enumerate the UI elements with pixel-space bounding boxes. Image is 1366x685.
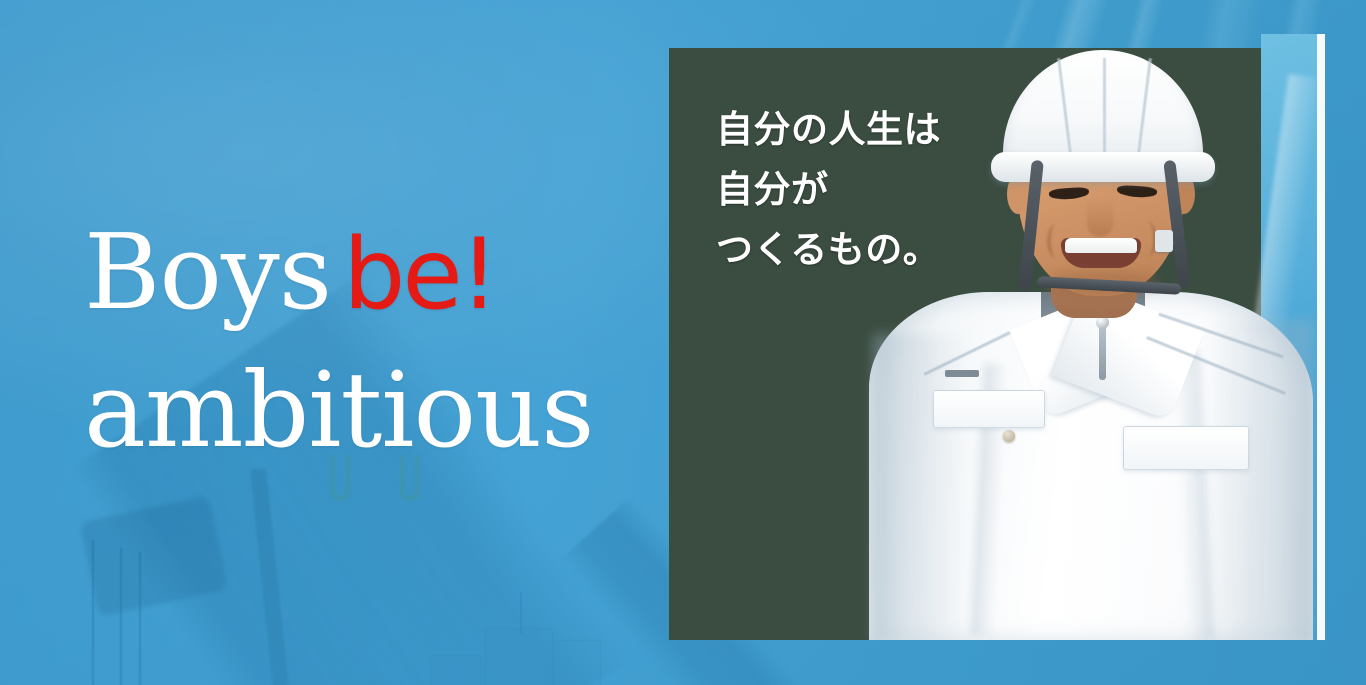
portrait-cutout-edge — [1317, 34, 1325, 640]
jacket-shading-left — [873, 334, 969, 640]
jacket-chest-pocket — [1123, 426, 1249, 470]
hard-hat-brim — [991, 152, 1215, 182]
message-line-2: 自分が — [716, 160, 1016, 220]
message-line-3: つくるもの。 — [716, 220, 1016, 280]
headline-line-1: Boysbe! — [84, 203, 684, 341]
headline-line-2: ambitious — [84, 341, 684, 479]
hard-hat-rib — [1103, 58, 1106, 154]
jacket-chest-pocket — [933, 390, 1045, 428]
jacket-pocket-slit — [945, 370, 979, 377]
recruiting-hero-banner: Boysbe! ambitious — [0, 0, 1366, 685]
message-line-1: 自分の人生は — [716, 100, 1016, 160]
jacket-pocket-button — [1003, 430, 1015, 442]
jacket-zipper — [1099, 322, 1106, 380]
worker-teeth — [1065, 238, 1137, 253]
chin-strap-clip — [1155, 230, 1173, 252]
message-copy: 自分の人生は 自分が つくるもの。 — [716, 100, 1016, 280]
headline-word-be: be! — [343, 218, 496, 332]
worker-nose — [1087, 199, 1113, 237]
worker-smile — [1061, 238, 1141, 268]
headline-word-boys: Boys — [84, 211, 331, 333]
hero-headline: Boysbe! ambitious — [84, 203, 684, 480]
